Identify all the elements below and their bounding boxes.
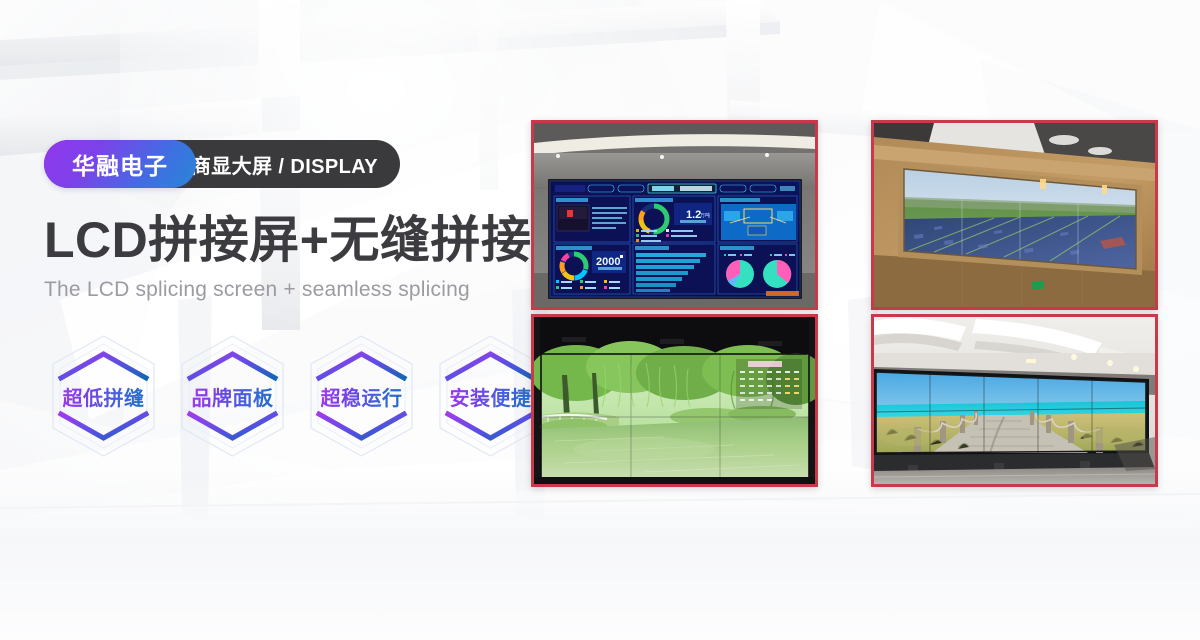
gallery-panel-dashboard[interactable]: 1.2 万吨 bbox=[531, 120, 818, 310]
feature-list: 超低拼缝 品牌面板 bbox=[44, 330, 550, 462]
brand-badge-row: 商显大屏 / DISPLAY 华融电子 bbox=[44, 140, 524, 188]
page-title: LCD拼接屏+无缝拼接 bbox=[44, 214, 524, 266]
beach-scene-photo bbox=[874, 317, 1155, 484]
gallery-panel-beach-scene[interactable] bbox=[871, 314, 1158, 487]
gallery-panel-solar-farm[interactable] bbox=[871, 120, 1158, 310]
feature-item-2: 超稳运行 bbox=[302, 330, 421, 462]
brand-badge: 华融电子 bbox=[44, 140, 196, 188]
gallery-panel-lake-scene[interactable] bbox=[531, 314, 818, 487]
headline-block: 商显大屏 / DISPLAY 华融电子 LCD拼接屏+无缝拼接 The LCD … bbox=[44, 140, 524, 302]
page-subtitle: The LCD splicing screen + seamless splic… bbox=[44, 278, 524, 302]
solar-farm-photo bbox=[874, 123, 1155, 307]
feature-label: 超低拼缝 bbox=[63, 382, 145, 411]
product-banner: 商显大屏 / DISPLAY 华融电子 LCD拼接屏+无缝拼接 The LCD … bbox=[0, 0, 1200, 640]
feature-item-1: 品牌面板 bbox=[173, 330, 292, 462]
feature-label: 品牌面板 bbox=[192, 382, 274, 411]
lake-scene-photo bbox=[534, 317, 815, 484]
category-badge-label: 商显大屏 / DISPLAY bbox=[191, 150, 378, 179]
dashboard-photo: 1.2 万吨 bbox=[534, 123, 815, 307]
brand-badge-label: 华融电子 bbox=[72, 147, 168, 181]
feature-label: 安装便捷 bbox=[450, 382, 532, 411]
feature-label: 超稳运行 bbox=[321, 382, 403, 411]
background-floor bbox=[0, 470, 1200, 640]
feature-item-0: 超低拼缝 bbox=[44, 330, 163, 462]
